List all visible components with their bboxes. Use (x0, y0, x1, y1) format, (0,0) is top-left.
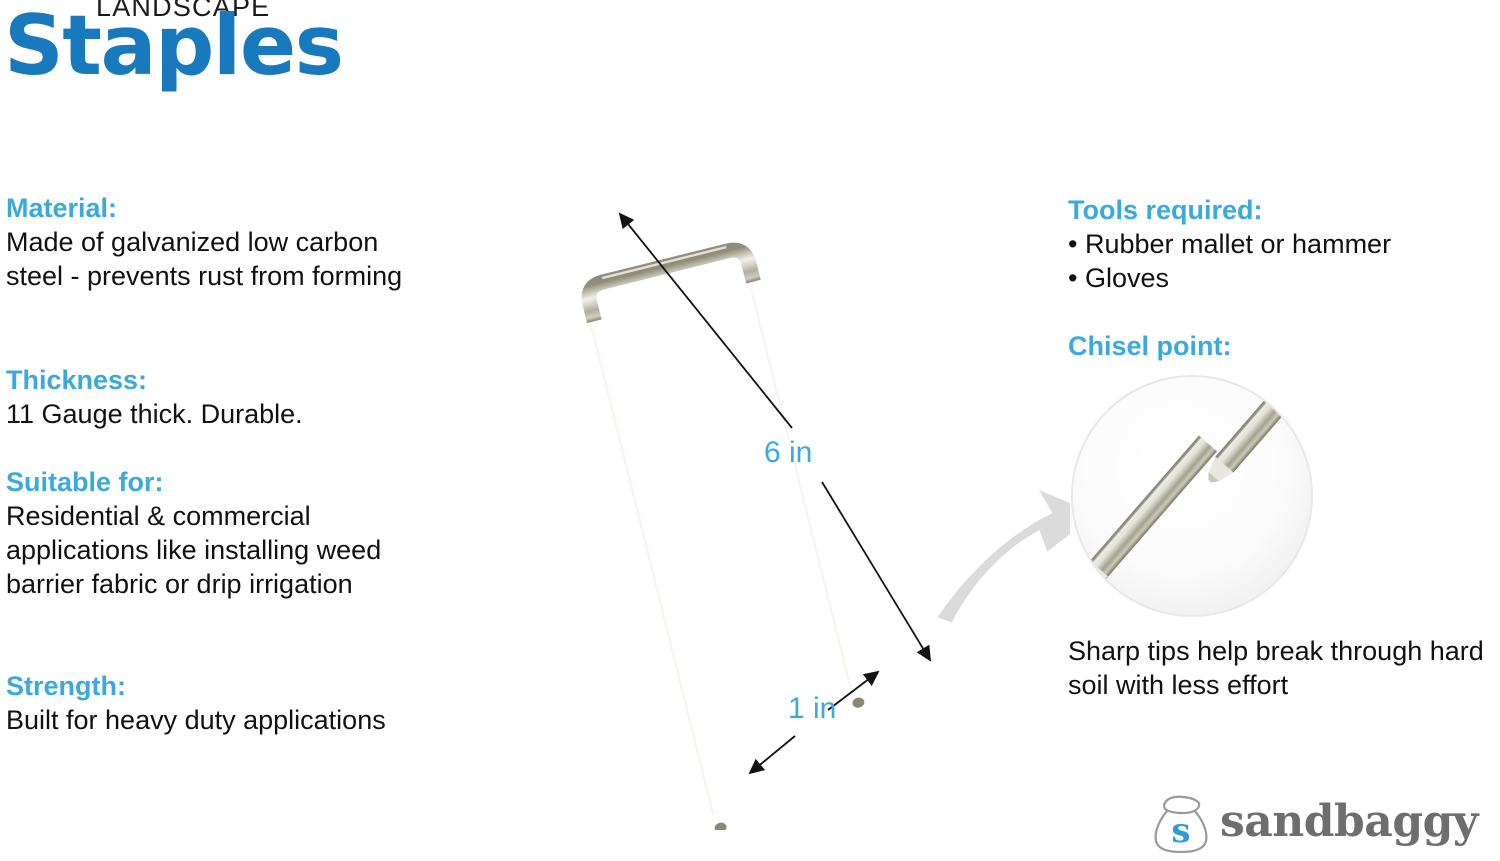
sandbaggy-wordmark: sandbaggy (1220, 796, 1478, 848)
spec-material-body: Made of galvanized low carbon steel - pr… (6, 225, 426, 293)
spec-chisel-heading: Chisel point: (1068, 330, 1498, 363)
spec-strength: Strength: Built for heavy duty applicati… (6, 670, 406, 737)
spec-thickness-body: 11 Gauge thick. Durable. (6, 397, 426, 431)
spec-tools-list: • Rubber mallet or hammer • Gloves (1068, 227, 1498, 295)
callout-arrow (929, 486, 1070, 623)
dimension-label-length: 6 in (764, 436, 812, 469)
spec-strength-body: Built for heavy duty applications (6, 703, 406, 737)
spec-tools-required: Tools required: • Rubber mallet or hamme… (1068, 194, 1498, 295)
list-item: • Rubber mallet or hammer (1068, 227, 1498, 261)
spec-thickness-heading: Thickness: (6, 364, 426, 397)
spec-chisel-caption-wrap: Sharp tips help break through hard soil … (1068, 634, 1500, 702)
chisel-point-magnifier (1068, 372, 1316, 620)
sandbag-letter: s (1171, 811, 1190, 851)
spec-material: Material: Made of galvanized low carbon … (6, 192, 426, 293)
spec-chisel-point: Chisel point: (1068, 330, 1498, 363)
spec-suitable-heading: Suitable for: (6, 466, 406, 499)
list-item: • Gloves (1068, 261, 1498, 295)
spec-suitable-body: Residential & commercial applications li… (6, 499, 406, 601)
spec-material-heading: Material: (6, 192, 426, 225)
sandbag-icon: s (1148, 793, 1214, 853)
brand-title: LANDSCAPE Staples (4, 0, 424, 106)
staple-body (579, 241, 887, 830)
product-illustration: 6 in 1 in (430, 170, 1070, 830)
page-title: Staples (4, 4, 343, 87)
spec-chisel-caption: Sharp tips help break through hard soil … (1068, 634, 1500, 702)
dimension-width: 1 in (750, 672, 878, 773)
spec-tools-heading: Tools required: (1068, 194, 1498, 227)
spec-thickness: Thickness: 11 Gauge thick. Durable. (6, 364, 426, 431)
spec-suitable-for: Suitable for: Residential & commercial a… (6, 466, 406, 601)
sandbaggy-logo: s sandbaggy (1148, 792, 1492, 854)
spec-strength-heading: Strength: (6, 670, 406, 703)
dimension-label-width: 1 in (788, 692, 836, 725)
